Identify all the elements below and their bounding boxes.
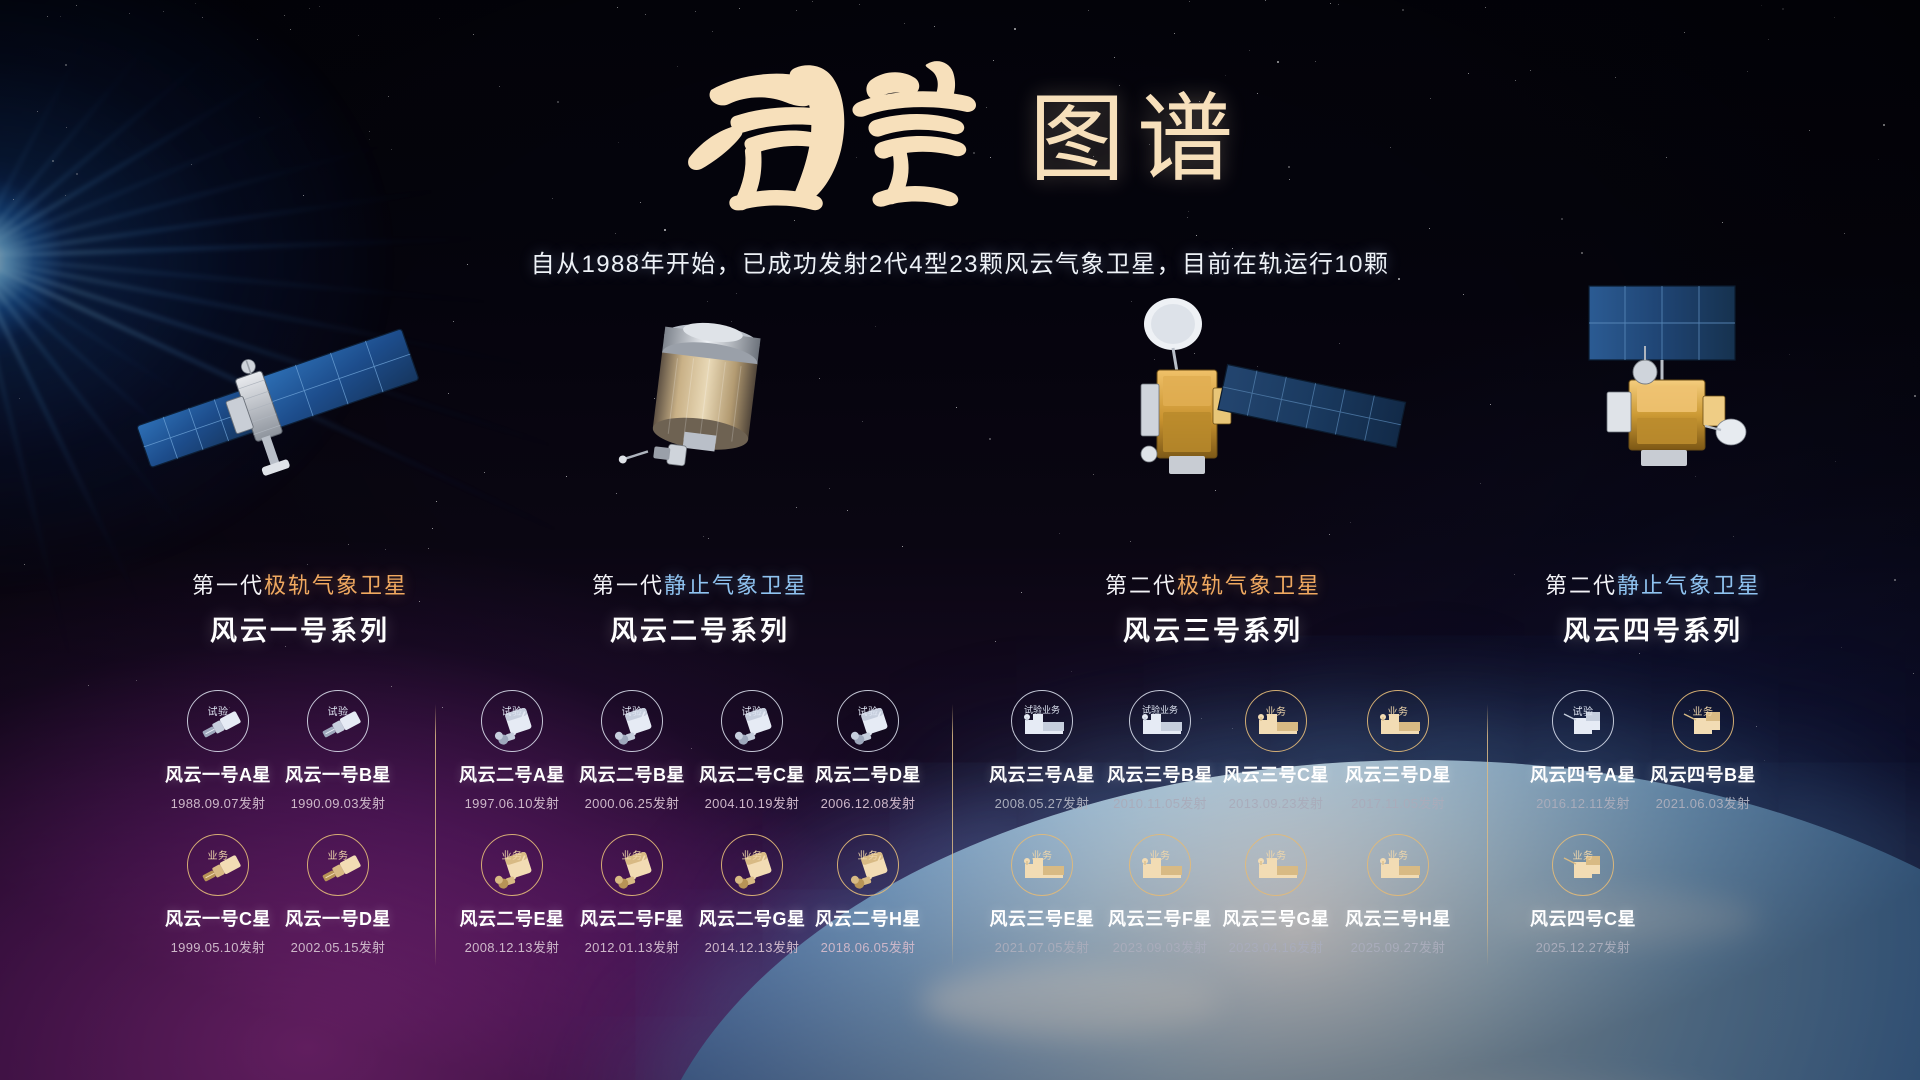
fy2-satellite-icon [481, 834, 543, 896]
satellite-launch-date: 2004.10.19发射 [688, 793, 816, 812]
fy2-satellite-icon [601, 834, 663, 896]
satellite-card[interactable]: 试验风云一号A星1988.09.07发射 [154, 690, 282, 812]
geostationary-satellite-gen2-icon [1545, 280, 1825, 500]
column-header-1: 第一代极轨气象卫星风云一号系列 [80, 572, 520, 648]
satellite-name: 风云一号A星 [154, 761, 282, 787]
satellite-name: 风云三号C星 [1212, 761, 1340, 787]
geostationary-satellite-gen1-icon [615, 292, 795, 502]
satellite-name: 风云一号B星 [274, 761, 402, 787]
brush-title-fengyun-icon [675, 46, 1005, 218]
column-generation-label: 第二代 [1545, 573, 1617, 598]
satellite-status-tag: 试验业务 [1129, 703, 1191, 716]
column-orbit-type-label: 极轨气象卫星 [1177, 573, 1321, 598]
fy2-satellite-icon [837, 690, 899, 752]
satellite-launch-date: 2016.12.11发射 [1519, 793, 1647, 812]
satellite-badge-fy2-satellite-icon[interactable]: 试验 [837, 690, 899, 752]
fy4-satellite-icon [1552, 690, 1614, 752]
satellite-card[interactable]: 试验风云二号D星2006.12.08发射 [804, 690, 932, 812]
satellite-badge-fy1-satellite-icon[interactable]: 业务 [307, 834, 369, 896]
satellite-grid: 试验风云一号A星1988.09.07发射试验风云一号B星1990.09.03发射… [0, 690, 1920, 990]
satellite-launch-date: 2014.12.13发射 [688, 937, 816, 956]
satellite-status-tag: 试验 [481, 703, 543, 718]
satellite-card[interactable]: 试验风云二号A星1997.06.10发射 [448, 690, 576, 812]
satellite-badge-fy3-satellite-icon[interactable]: 试验业务 [1011, 690, 1073, 752]
column-header-category: 第一代极轨气象卫星 [80, 572, 520, 600]
satellite-card[interactable]: 业务风云二号H星2018.06.05发射 [804, 834, 932, 956]
satellite-name: 风云三号H星 [1334, 905, 1462, 931]
satellite-card[interactable]: 业务风云三号C星2013.09.23发射 [1212, 690, 1340, 812]
satellite-status-tag: 试验 [601, 703, 663, 718]
column-series-title: 风云四号系列 [1433, 609, 1873, 648]
satellite-card[interactable]: 业务风云二号E星2008.12.13发射 [448, 834, 576, 956]
satellite-name: 风云二号F星 [568, 905, 696, 931]
satellite-name: 风云二号A星 [448, 761, 576, 787]
title-tupu: 图谱 [1029, 91, 1245, 187]
satellite-launch-date: 2017.11.05发射 [1334, 793, 1462, 812]
column-divider [1487, 704, 1488, 966]
satellite-badge-fy1-satellite-icon[interactable]: 试验 [307, 690, 369, 752]
poster-subtitle: 自从1988年开始，已成功发射2代4型23颗风云气象卫星，目前在轨运行10颗 [0, 244, 1920, 279]
satellite-badge-fy4-satellite-icon[interactable]: 试验 [1552, 690, 1614, 752]
column-divider [435, 704, 436, 966]
satellite-status-tag: 试验 [721, 703, 783, 718]
satellite-name: 风云二号H星 [804, 905, 932, 931]
satellite-card[interactable]: 业务风云三号G星2023.04.16发射 [1212, 834, 1340, 956]
satellite-card[interactable]: 业务风云三号F星2023.09.03发射 [1096, 834, 1224, 956]
satellite-name: 风云三号A星 [978, 761, 1106, 787]
title-row: 图谱 [0, 46, 1920, 218]
satellite-badge-fy2-satellite-icon[interactable]: 试验 [481, 690, 543, 752]
satellite-card[interactable]: 业务风云四号B星2021.06.03发射 [1639, 690, 1767, 812]
satellite-launch-date: 2021.07.05发射 [978, 937, 1106, 956]
satellite-status-tag: 业务 [187, 847, 249, 862]
satellite-badge-fy3-satellite-icon[interactable]: 试验业务 [1129, 690, 1191, 752]
satellite-badge-fy2-satellite-icon[interactable]: 业务 [601, 834, 663, 896]
satellite-launch-date: 2023.09.03发射 [1096, 937, 1224, 956]
satellite-status-tag: 业务 [1367, 847, 1429, 862]
fy3-satellite-icon [1367, 834, 1429, 896]
polar-orbit-satellite-gen2-icon [1105, 288, 1425, 498]
column-header-2: 第一代静止气象卫星风云二号系列 [480, 572, 920, 648]
satellite-status-tag: 业务 [307, 847, 369, 862]
fy3-satellite-icon [1129, 690, 1191, 752]
column-header-category: 第二代静止气象卫星 [1433, 572, 1873, 600]
satellite-badge-fy3-satellite-icon[interactable]: 业务 [1245, 834, 1307, 896]
fy1-satellite-icon [187, 834, 249, 896]
fy1-satellite-icon [307, 690, 369, 752]
satellite-badge-fy2-satellite-icon[interactable]: 业务 [837, 834, 899, 896]
satellite-status-tag: 试验业务 [1011, 703, 1073, 716]
satellite-launch-date: 2008.12.13发射 [448, 937, 576, 956]
satellite-name: 风云四号C星 [1519, 905, 1647, 931]
fy2-satellite-icon [481, 690, 543, 752]
satellite-launch-date: 2021.06.03发射 [1639, 793, 1767, 812]
satellite-status-tag: 业务 [1672, 703, 1734, 718]
satellite-status-tag: 业务 [721, 847, 783, 862]
column-generation-label: 第一代 [192, 573, 264, 598]
hero-satellite-fy1 [110, 300, 450, 505]
satellite-badge-fy1-satellite-icon[interactable]: 业务 [187, 834, 249, 896]
satellite-launch-date: 2012.01.13发射 [568, 937, 696, 956]
satellite-launch-date: 2013.09.23发射 [1212, 793, 1340, 812]
satellite-launch-date: 1990.09.03发射 [274, 793, 402, 812]
fy2-satellite-icon [837, 834, 899, 896]
satellite-status-tag: 试验 [307, 703, 369, 718]
satellite-status-tag: 业务 [1367, 703, 1429, 718]
satellite-launch-date: 2000.06.25发射 [568, 793, 696, 812]
satellite-launch-date: 1997.06.10发射 [448, 793, 576, 812]
satellite-badge-fy3-satellite-icon[interactable]: 业务 [1367, 690, 1429, 752]
satellite-launch-date: 1999.05.10发射 [154, 937, 282, 956]
column-header-3: 第二代极轨气象卫星风云三号系列 [993, 572, 1433, 648]
satellite-card[interactable]: 业务风云四号C星2025.12.27发射 [1519, 834, 1647, 956]
satellite-name: 风云一号D星 [274, 905, 402, 931]
column-series-title: 风云二号系列 [480, 609, 920, 648]
satellite-badge-fy4-satellite-icon[interactable]: 业务 [1672, 690, 1734, 752]
fy3-satellite-icon [1245, 834, 1307, 896]
satellite-name: 风云四号B星 [1639, 761, 1767, 787]
hero-satellite-fy3 [1105, 288, 1425, 503]
satellite-badge-fy3-satellite-icon[interactable]: 业务 [1245, 690, 1307, 752]
satellite-status-tag: 试验 [187, 703, 249, 718]
satellite-card[interactable]: 试验风云一号B星1990.09.03发射 [274, 690, 402, 812]
satellite-status-tag: 业务 [601, 847, 663, 862]
column-header-category: 第二代极轨气象卫星 [993, 572, 1433, 600]
satellite-launch-date: 2025.12.27发射 [1519, 937, 1647, 956]
satellite-badge-fy2-satellite-icon[interactable]: 业务 [721, 834, 783, 896]
poster-header: 图谱 自从1988年开始，已成功发射2代4型23颗风云气象卫星，目前在轨运行10… [0, 46, 1920, 279]
satellite-badge-fy3-satellite-icon[interactable]: 业务 [1367, 834, 1429, 896]
column-headers: 第一代极轨气象卫星风云一号系列第一代静止气象卫星风云二号系列第二代极轨气象卫星风… [0, 572, 1920, 662]
column-orbit-type-label: 静止气象卫星 [1617, 573, 1761, 598]
satellite-card[interactable]: 业务风云一号D星2002.05.15发射 [274, 834, 402, 956]
satellite-launch-date: 2023.04.16发射 [1212, 937, 1340, 956]
satellite-launch-date: 2008.05.27发射 [978, 793, 1106, 812]
satellite-badge-fy3-satellite-icon[interactable]: 业务 [1011, 834, 1073, 896]
satellite-badge-fy2-satellite-icon[interactable]: 试验 [601, 690, 663, 752]
satellite-badge-fy2-satellite-icon[interactable]: 业务 [481, 834, 543, 896]
fy1-satellite-icon [307, 834, 369, 896]
hero-satellite-fy4 [1545, 280, 1825, 505]
satellite-name: 风云二号C星 [688, 761, 816, 787]
fy1-satellite-icon [187, 690, 249, 752]
satellite-status-tag: 业务 [1552, 847, 1614, 862]
satellite-card[interactable]: 试验业务风云三号A星2008.05.27发射 [978, 690, 1106, 812]
satellite-name: 风云三号G星 [1212, 905, 1340, 931]
fy3-satellite-icon [1011, 834, 1073, 896]
satellite-name: 风云二号D星 [804, 761, 932, 787]
satellite-name: 风云四号A星 [1519, 761, 1647, 787]
satellite-card[interactable]: 业务风云三号H星2025.09.27发射 [1334, 834, 1462, 956]
fy4-satellite-icon [1552, 834, 1614, 896]
satellite-badge-fy4-satellite-icon[interactable]: 业务 [1552, 834, 1614, 896]
column-header-category: 第一代静止气象卫星 [480, 572, 920, 600]
fy3-satellite-icon [1245, 690, 1307, 752]
satellite-card[interactable]: 试验风云二号C星2004.10.19发射 [688, 690, 816, 812]
column-header-4: 第二代静止气象卫星风云四号系列 [1433, 572, 1873, 648]
column-series-title: 风云一号系列 [80, 609, 520, 648]
satellite-launch-date: 2018.06.05发射 [804, 937, 932, 956]
satellite-launch-date: 2025.09.27发射 [1334, 937, 1462, 956]
satellite-card[interactable]: 业务风云二号F星2012.01.13发射 [568, 834, 696, 956]
satellite-name: 风云三号B星 [1096, 761, 1224, 787]
satellite-card[interactable]: 业务风云三号E星2021.07.05发射 [978, 834, 1106, 956]
satellite-status-tag: 业务 [1129, 847, 1191, 862]
fy3-satellite-icon [1011, 690, 1073, 752]
satellite-card[interactable]: 试验风云四号A星2016.12.11发射 [1519, 690, 1647, 812]
column-divider [952, 704, 953, 966]
satellite-status-tag: 业务 [1011, 847, 1073, 862]
satellite-status-tag: 业务 [481, 847, 543, 862]
satellite-status-tag: 业务 [1245, 703, 1307, 718]
satellite-status-tag: 业务 [837, 847, 899, 862]
satellite-status-tag: 试验 [837, 703, 899, 718]
satellite-launch-date: 2002.05.15发射 [274, 937, 402, 956]
fy3-satellite-icon [1129, 834, 1191, 896]
satellite-card[interactable]: 试验业务风云三号B星2010.11.05发射 [1096, 690, 1224, 812]
column-generation-label: 第二代 [1105, 573, 1177, 598]
hero-satellite-fy2 [615, 292, 795, 507]
satellite-launch-date: 2006.12.08发射 [804, 793, 932, 812]
satellite-name: 风云一号C星 [154, 905, 282, 931]
satellite-launch-date: 2010.11.05发射 [1096, 793, 1224, 812]
satellite-status-tag: 业务 [1245, 847, 1307, 862]
satellite-badge-fy2-satellite-icon[interactable]: 试验 [721, 690, 783, 752]
fy3-satellite-icon [1367, 690, 1429, 752]
satellite-card[interactable]: 试验风云二号B星2000.06.25发射 [568, 690, 696, 812]
satellite-name: 风云二号G星 [688, 905, 816, 931]
column-orbit-type-label: 极轨气象卫星 [264, 573, 408, 598]
satellite-name: 风云二号B星 [568, 761, 696, 787]
polar-orbit-satellite-gen1-icon [110, 300, 450, 500]
satellite-name: 风云三号F星 [1096, 905, 1224, 931]
satellite-card[interactable]: 业务风云三号D星2017.11.05发射 [1334, 690, 1462, 812]
satellite-name: 风云二号E星 [448, 905, 576, 931]
column-series-title: 风云三号系列 [993, 609, 1433, 648]
satellite-badge-fy1-satellite-icon[interactable]: 试验 [187, 690, 249, 752]
satellite-launch-date: 1988.09.07发射 [154, 793, 282, 812]
fy4-satellite-icon [1672, 690, 1734, 752]
satellite-name: 风云三号E星 [978, 905, 1106, 931]
column-generation-label: 第一代 [592, 573, 664, 598]
satellite-name: 风云三号D星 [1334, 761, 1462, 787]
satellite-card[interactable]: 业务风云一号C星1999.05.10发射 [154, 834, 282, 956]
fy2-satellite-icon [721, 834, 783, 896]
infographic-poster: 图谱 自从1988年开始，已成功发射2代4型23颗风云气象卫星，目前在轨运行10… [0, 0, 1920, 1080]
satellite-status-tag: 试验 [1552, 703, 1614, 718]
column-orbit-type-label: 静止气象卫星 [664, 573, 808, 598]
fy2-satellite-icon [601, 690, 663, 752]
satellite-card[interactable]: 业务风云二号G星2014.12.13发射 [688, 834, 816, 956]
fy2-satellite-icon [721, 690, 783, 752]
satellite-badge-fy3-satellite-icon[interactable]: 业务 [1129, 834, 1191, 896]
hero-satellite-row [0, 300, 1920, 540]
